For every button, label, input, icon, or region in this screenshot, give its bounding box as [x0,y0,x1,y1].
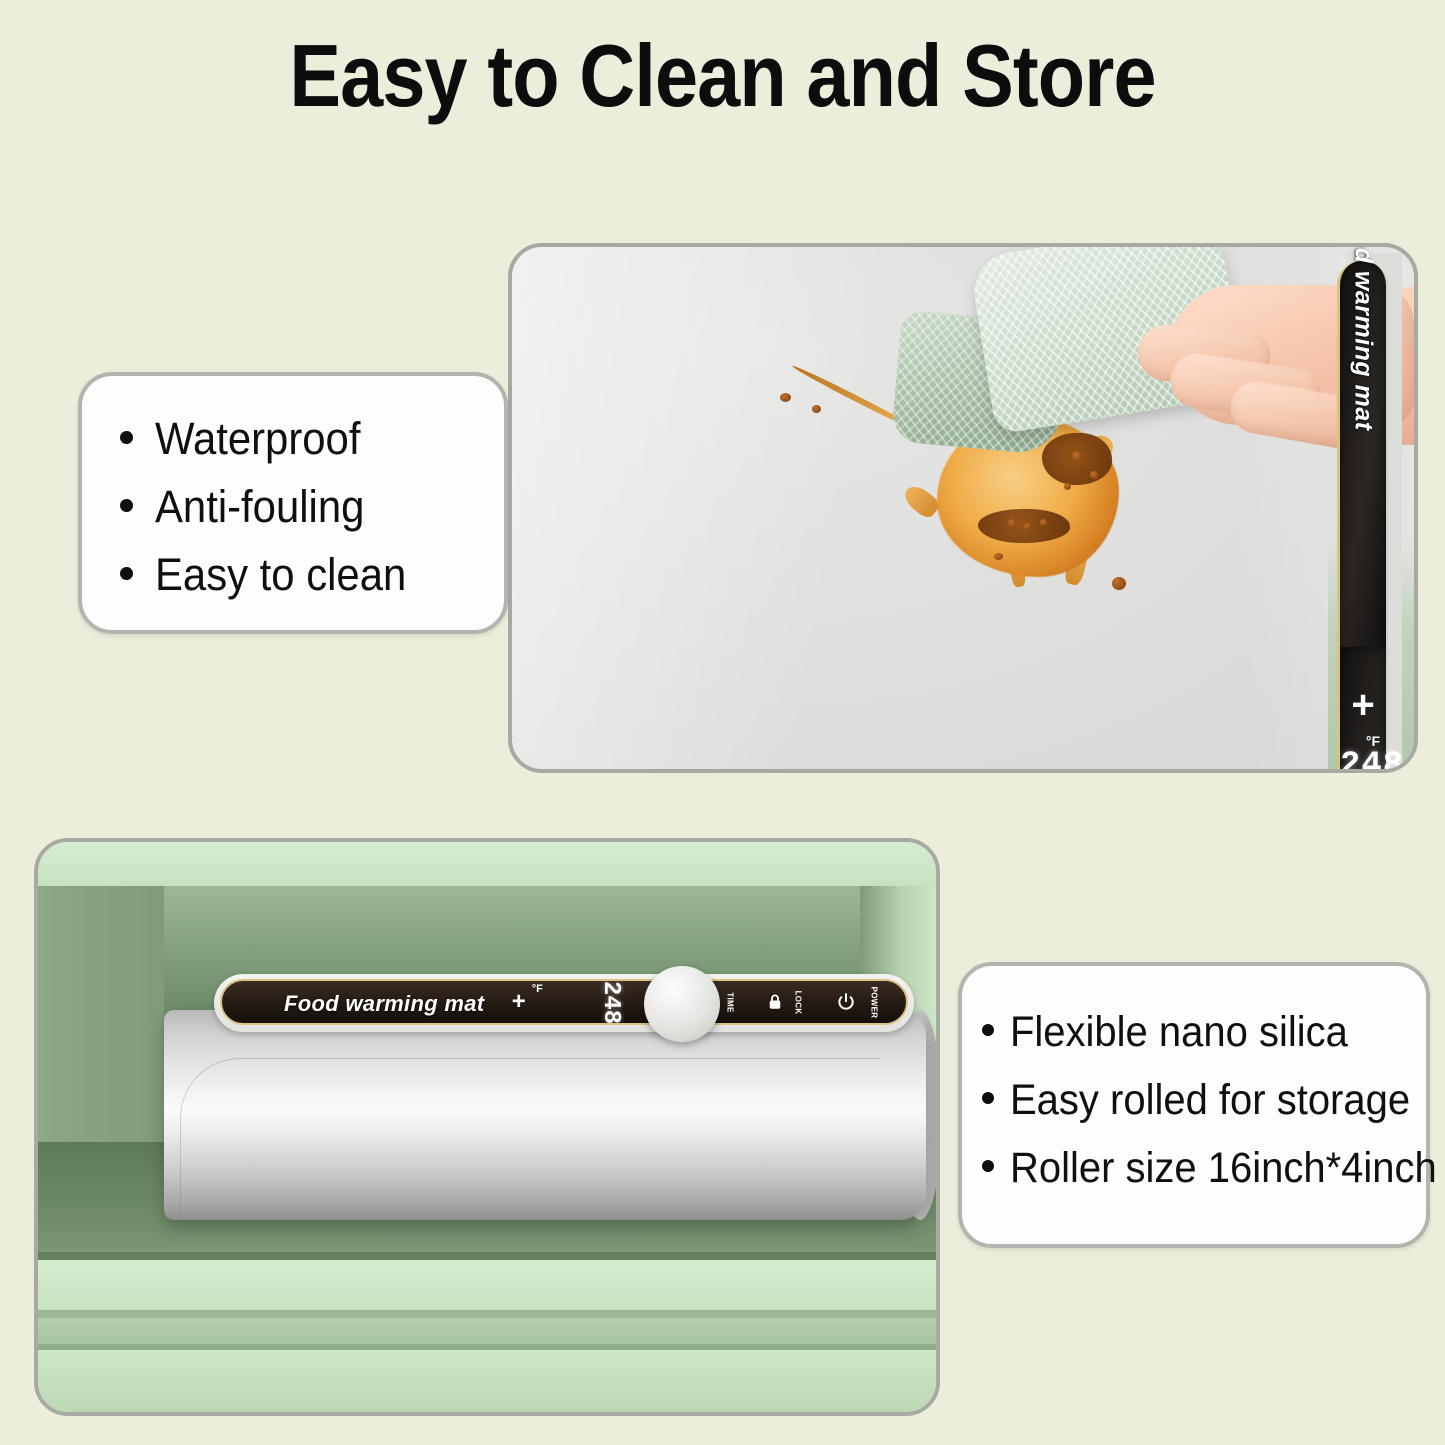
spill-droplet [780,393,791,402]
top-scene-wiping-mat: Food warming mat + °F 248 − [508,243,1418,773]
mat-brand-strip: Food warming mat [1337,261,1388,661]
spill-bubble [1072,451,1082,461]
temperature-display: 248 [1340,747,1386,773]
roll-knob[interactable] [644,966,720,1042]
control-bar: Food warming mat + °F 248 − TIME [214,974,914,1032]
lock-icon [766,992,784,1012]
spill-bubble [1064,483,1071,490]
list-item-label: Roller size 16inch*4inch [1010,1136,1437,1201]
timer-label: TIME [726,992,735,1012]
list-item-label: Waterproof [155,406,360,471]
list-item: Easy rolled for storage [982,1068,1426,1133]
list-item-label: Easy rolled for storage [1010,1068,1410,1133]
drawer-band [38,1310,936,1318]
drawer-band [38,1252,936,1260]
control-bar-face: Food warming mat + °F 248 − TIME [220,979,908,1025]
rolled-mat: Food warming mat + °F 248 − TIME [164,980,926,1220]
list-item: Roller size 16inch*4inch [982,1136,1426,1201]
features-card-right: Flexible nano silica Easy rolled for sto… [958,962,1430,1248]
spill-bubble [1090,471,1098,479]
list-item-label: Flexible nano silica [1010,1000,1348,1065]
lock-label: LOCK [794,990,803,1014]
lock-button[interactable]: LOCK [766,992,810,1012]
bullet-icon [982,1024,994,1036]
spill-bubble [1008,519,1016,527]
list-item: Waterproof [120,406,504,471]
product-infographic: Easy to Clean and Store [0,0,1445,1445]
increase-temp-button[interactable]: + [512,990,526,1014]
bottom-scene-rolled-mat: Food warming mat + °F 248 − TIME [34,838,940,1416]
roll-seam [180,1058,881,1229]
brand-label-vertical: Food warming mat [1349,243,1378,431]
list-item-label: Easy to clean [155,542,406,607]
feature-list: Waterproof Anti-fouling Easy to clean [82,376,504,607]
list-item: Easy to clean [120,542,504,607]
increase-temp-button[interactable]: + [1340,685,1386,725]
bullet-icon [120,499,133,512]
spill-bubble [1024,523,1031,530]
feature-list: Flexible nano silica Easy rolled for sto… [962,966,1426,1201]
drawer-band [38,1260,936,1310]
bullet-icon [120,567,133,580]
mat-control-panel: + °F 248 − [1337,647,1388,773]
roll-body [164,1010,926,1220]
spill-droplet [994,553,1003,560]
list-item: Flexible nano silica [982,1000,1426,1065]
temperature-display: 248 [597,980,624,1023]
list-item: Anti-fouling [120,474,504,539]
spill-droplet [812,405,821,413]
page-title: Easy to Clean and Store [87,28,1359,124]
drawer-front-panel [38,1252,936,1412]
drawer-band [38,1350,936,1412]
power-button[interactable]: POWER [836,992,890,1012]
spill-bubble [1040,519,1047,526]
features-card-left: Waterproof Anti-fouling Easy to clean [78,372,508,634]
drawer-top-rim [38,842,936,888]
power-icon [836,992,856,1012]
spill-spike [900,481,942,521]
drawer-band [38,1318,936,1344]
temperature-unit: °F [532,983,543,995]
brand-label-horizontal: Food warming mat [284,991,484,1017]
power-label: POWER [870,986,879,1018]
bullet-icon [982,1092,994,1104]
spill-droplet [1112,577,1126,590]
list-item-label: Anti-fouling [155,474,364,539]
bullet-icon [982,1160,994,1172]
bullet-icon [120,431,133,444]
